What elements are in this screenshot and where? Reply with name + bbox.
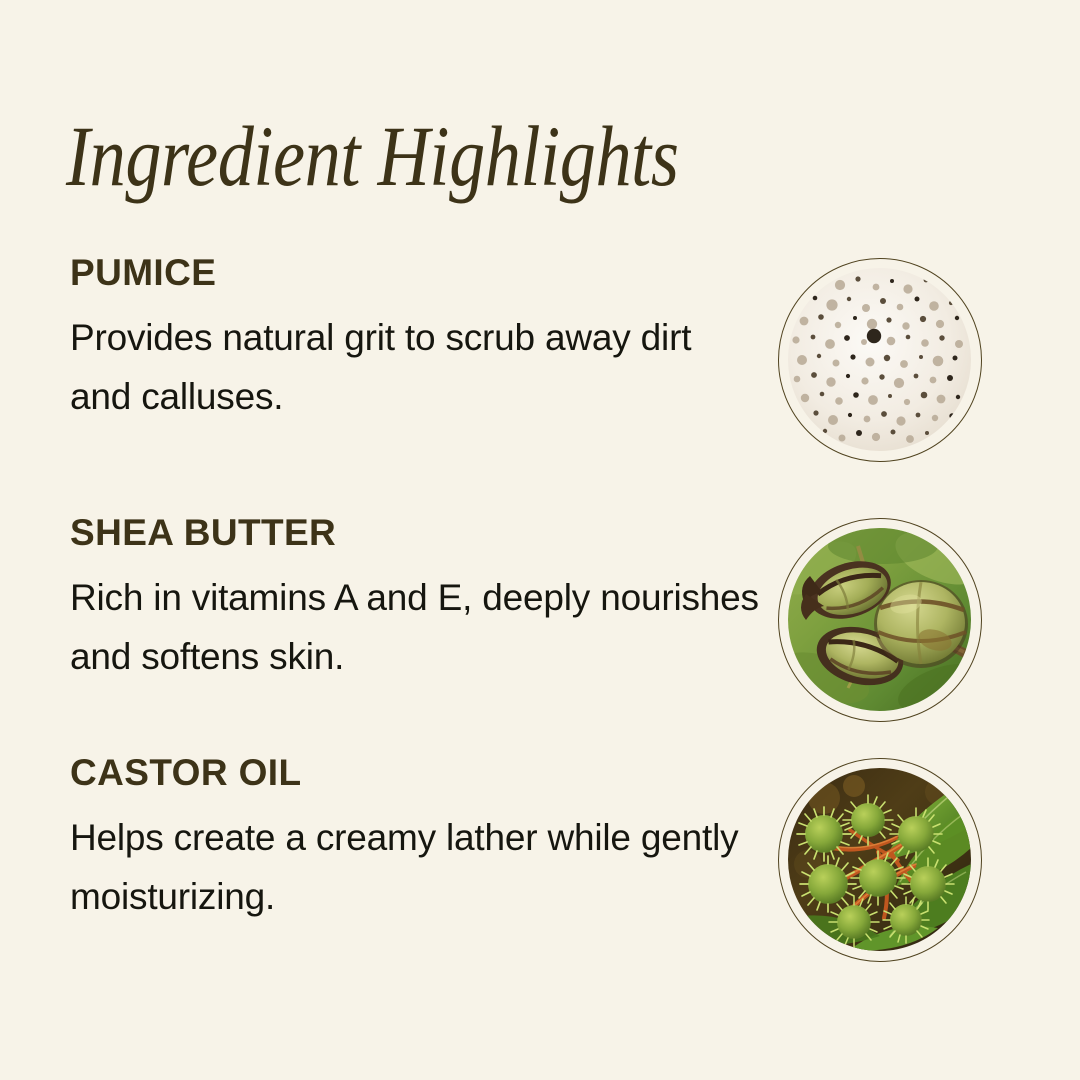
pumice-stone-photo xyxy=(788,268,971,451)
castor-plant-photo xyxy=(788,768,971,951)
ingredient-text-block: SHEA BUTTER Rich in vitamins A and E, de… xyxy=(70,510,760,686)
shea-nuts-photo xyxy=(788,528,971,711)
ingredient-name: CASTOR OIL xyxy=(70,750,760,796)
ingredient-image-medallion xyxy=(778,758,982,962)
ingredient-highlights-card: Ingredient Highlights PUMICE Provides na… xyxy=(0,0,1080,1080)
ingredient-description: Provides natural grit to scrub away dirt… xyxy=(70,308,760,426)
ingredient-text-block: PUMICE Provides natural grit to scrub aw… xyxy=(70,250,760,426)
ingredient-image-medallion xyxy=(778,518,982,722)
page-title: Ingredient Highlights xyxy=(66,108,856,204)
ingredient-row-shea-butter: SHEA BUTTER Rich in vitamins A and E, de… xyxy=(0,510,1080,720)
ingredient-name: PUMICE xyxy=(70,250,760,296)
ingredient-image-medallion xyxy=(778,258,982,462)
ingredient-description: Helps create a creamy lather while gentl… xyxy=(70,808,760,926)
ingredient-row-pumice: PUMICE Provides natural grit to scrub aw… xyxy=(0,250,1080,460)
ingredient-text-block: CASTOR OIL Helps create a creamy lather … xyxy=(70,750,760,926)
ingredient-name: SHEA BUTTER xyxy=(70,510,760,556)
ingredient-row-castor-oil: CASTOR OIL Helps create a creamy lather … xyxy=(0,750,1080,960)
ingredient-description: Rich in vitamins A and E, deeply nourish… xyxy=(70,568,760,686)
